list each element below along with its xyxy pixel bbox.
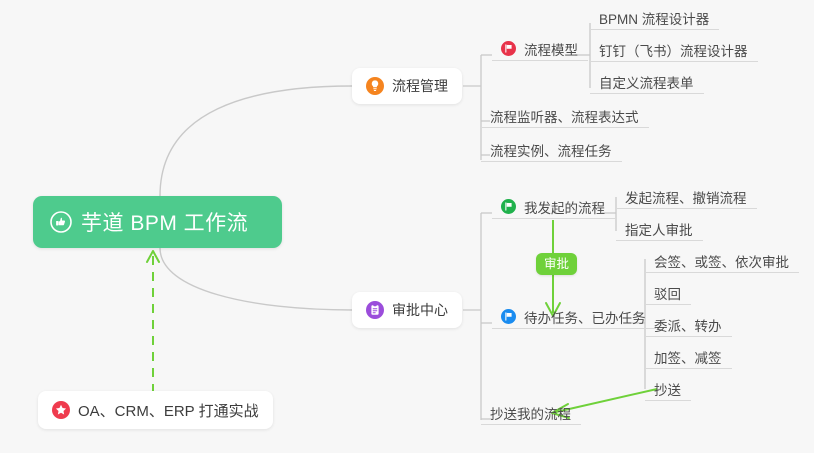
node-custom-form[interactable]: 自定义流程表单 [590, 66, 704, 94]
node-label: 待办任务、已办任务 [524, 312, 646, 326]
node-label: 加签、减签 [654, 352, 722, 366]
node-delegate-transfer[interactable]: 委派、转办 [645, 309, 732, 337]
lightbulb-icon [366, 77, 384, 95]
curve-root-to-process-management [160, 86, 352, 196]
node-process-management[interactable]: 流程管理 [352, 68, 462, 104]
root-node[interactable]: 芋道 BPM 工作流 [33, 196, 282, 248]
root-label: 芋道 BPM 工作流 [81, 207, 248, 237]
approval-badge: 审批 [536, 253, 577, 275]
curve-root-to-approval-center [160, 248, 352, 310]
node-label: 驳回 [654, 288, 681, 302]
node-label: 流程监听器、流程表达式 [490, 111, 639, 125]
node-label: 自定义流程表单 [599, 77, 694, 91]
node-reject[interactable]: 驳回 [645, 277, 691, 305]
node-cc[interactable]: 抄送 [645, 373, 691, 401]
node-my-initiated-flow[interactable]: 我发起的流程 [492, 191, 615, 219]
dashed-arrow-head [147, 251, 159, 262]
node-label: 发起流程、撤销流程 [625, 192, 747, 206]
flag-icon [501, 199, 516, 214]
node-process-model[interactable]: 流程模型 [492, 33, 588, 61]
node-label: 会签、或签、依次审批 [654, 256, 789, 270]
node-label: 委派、转办 [654, 320, 722, 334]
node-assigned-approval[interactable]: 指定人审批 [616, 213, 703, 241]
flag-icon [501, 309, 516, 324]
node-label: 审批中心 [392, 300, 448, 320]
node-cc-to-me-flow[interactable]: 抄送我的流程 [481, 397, 581, 425]
node-label: 流程模型 [524, 44, 578, 58]
flag-icon [501, 41, 516, 56]
node-approval-center[interactable]: 审批中心 [352, 292, 462, 328]
node-bpmn-designer[interactable]: BPMN 流程设计器 [590, 2, 719, 30]
node-label: 我发起的流程 [524, 202, 605, 216]
node-todo-done-tasks[interactable]: 待办任务、已办任务 [492, 301, 656, 329]
node-label: 抄送我的流程 [490, 408, 571, 422]
node-process-listener[interactable]: 流程监听器、流程表达式 [481, 100, 649, 128]
node-label: 指定人审批 [625, 224, 693, 238]
node-dingtalk-designer[interactable]: 钉钉（飞书）流程设计器 [590, 34, 758, 62]
node-label: 抄送 [654, 384, 681, 398]
mindmap-canvas: 芋道 BPM 工作流 流程管理 流程模型 BPMN 流程设计器 钉钉（飞书 [0, 0, 814, 453]
node-label: 钉钉（飞书）流程设计器 [599, 45, 748, 59]
clipboard-icon [366, 301, 384, 319]
node-add-remove-sign[interactable]: 加签、减签 [645, 341, 732, 369]
node-label: 流程管理 [392, 76, 448, 96]
node-label: OA、CRM、ERP 打通实战 [78, 400, 259, 421]
thumbs-up-icon [50, 211, 72, 233]
node-start-cancel-flow[interactable]: 发起流程、撤销流程 [616, 181, 757, 209]
node-countersign[interactable]: 会签、或签、依次审批 [645, 245, 799, 273]
node-process-instance[interactable]: 流程实例、流程任务 [481, 134, 622, 162]
node-oa-crm-erp[interactable]: OA、CRM、ERP 打通实战 [38, 391, 273, 429]
node-label: 流程实例、流程任务 [490, 145, 612, 159]
node-label: BPMN 流程设计器 [599, 13, 709, 27]
star-icon [52, 401, 70, 419]
